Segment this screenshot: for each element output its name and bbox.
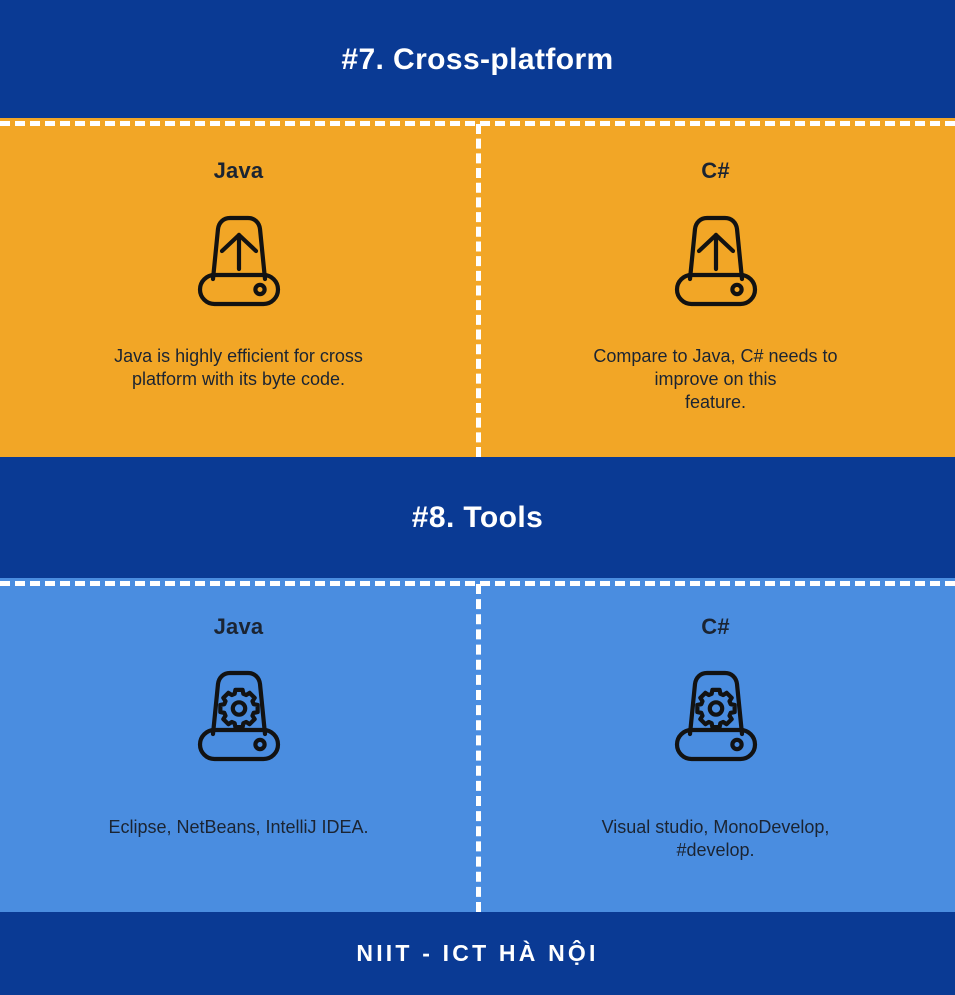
column-description-csharp: Compare to Java, C# needs to improve on …	[536, 345, 896, 414]
gear-box-icon	[183, 662, 295, 766]
section-panel-cross-platform: Java Java is highly efficient for cross …	[0, 118, 955, 457]
section-title: #8. Tools	[412, 501, 543, 534]
column-description-java: Java is highly efficient for cross platf…	[59, 345, 419, 391]
infographic-slide: #7. Cross-platform Java Java is highly e…	[0, 0, 955, 995]
column-heading-csharp: C#	[701, 158, 730, 184]
section-title: #7. Cross-platform	[341, 43, 613, 76]
column-description-csharp: Visual studio, MonoDevelop, #develop.	[516, 816, 916, 862]
column-csharp-cross-platform: C# Compare to Java, C# needs to improve …	[477, 118, 954, 457]
column-heading-csharp: C#	[701, 614, 730, 640]
section-panel-tools: Java Eclipse, NetBeans, IntelliJ IDEA. C…	[0, 578, 955, 912]
section-banner-tools: #8. Tools	[0, 457, 955, 578]
gear-box-icon	[660, 662, 772, 766]
column-csharp-tools: C# Visual studio, MonoDevelop, #develop.	[477, 578, 954, 912]
upload-box-icon	[183, 207, 295, 311]
column-heading-java: Java	[214, 614, 264, 640]
column-description-java: Eclipse, NetBeans, IntelliJ IDEA.	[39, 816, 439, 839]
column-java-tools: Java Eclipse, NetBeans, IntelliJ IDEA.	[0, 578, 477, 912]
footer-bar: NIIT - ICT HÀ NỘI	[0, 912, 955, 995]
footer-brand-text: NIIT - ICT HÀ NỘI	[356, 940, 598, 967]
upload-box-icon	[660, 207, 772, 311]
column-heading-java: Java	[214, 158, 264, 184]
column-java-cross-platform: Java Java is highly efficient for cross …	[0, 118, 477, 457]
section-banner-cross-platform: #7. Cross-platform	[0, 0, 955, 118]
